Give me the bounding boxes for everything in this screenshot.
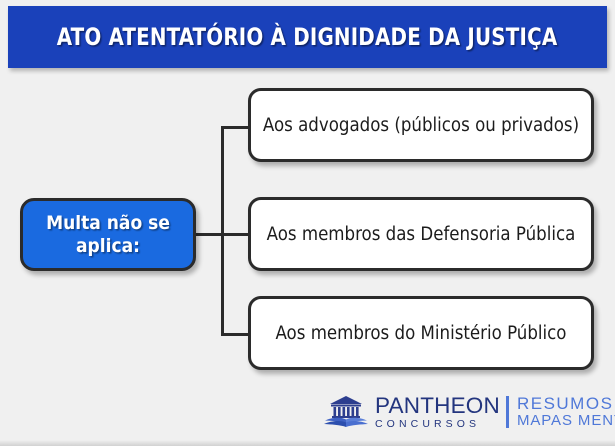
page-title: ATO ATENTATÓRIO À DIGNIDADE DA JUSTIÇA (57, 23, 558, 51)
header-bar: ATO ATENTATÓRIO À DIGNIDADE DA JUSTIÇA (8, 6, 607, 68)
diagram-node-ministerio-publico[interactable]: Aos membros do Ministério Público (248, 296, 594, 370)
connector-trunk (221, 126, 224, 336)
diagram-node-advogados[interactable]: Aos advogados (públicos ou privados) (248, 88, 594, 162)
logo-tagline-line2: MAPAS MENTAIS (517, 413, 615, 430)
slide-canvas: ATO ATENTATÓRIO À DIGNIDADE DA JUSTIÇA M… (0, 0, 615, 446)
logo-tagline-line1: RESUMOS & (517, 394, 615, 413)
diagram-node-root[interactable]: Multa não se aplica: (20, 198, 196, 271)
connector-branch-2 (221, 333, 251, 336)
logo-brand-subtitle: CONCURSOS (375, 419, 500, 430)
logo-brand-name: PANTHEON (375, 395, 500, 418)
connector-branch-0 (221, 126, 251, 129)
diagram-node-advogados-label: Aos advogados (públicos ou privados) (263, 115, 579, 136)
diagram-node-ministerio-publico-label: Aos membros do Ministério Público (276, 323, 567, 344)
logo-tagline: RESUMOS & MAPAS MENTAIS (517, 394, 615, 430)
brand-logo: PANTHEON CONCURSOS RESUMOS & MAPAS MENTA… (322, 392, 615, 432)
diagram-node-defensoria[interactable]: Aos membros das Defensoria Pública (248, 197, 594, 271)
pantheon-temple-book-icon (322, 395, 370, 429)
connector-branch-1 (221, 233, 251, 236)
diagram-node-root-label: Multa não se aplica: (46, 212, 170, 257)
diagram-node-defensoria-label: Aos membros das Defensoria Pública (267, 224, 576, 245)
connector-root-stub (196, 233, 224, 236)
logo-wordmark: PANTHEON CONCURSOS (375, 395, 500, 429)
logo-divider (506, 396, 509, 428)
